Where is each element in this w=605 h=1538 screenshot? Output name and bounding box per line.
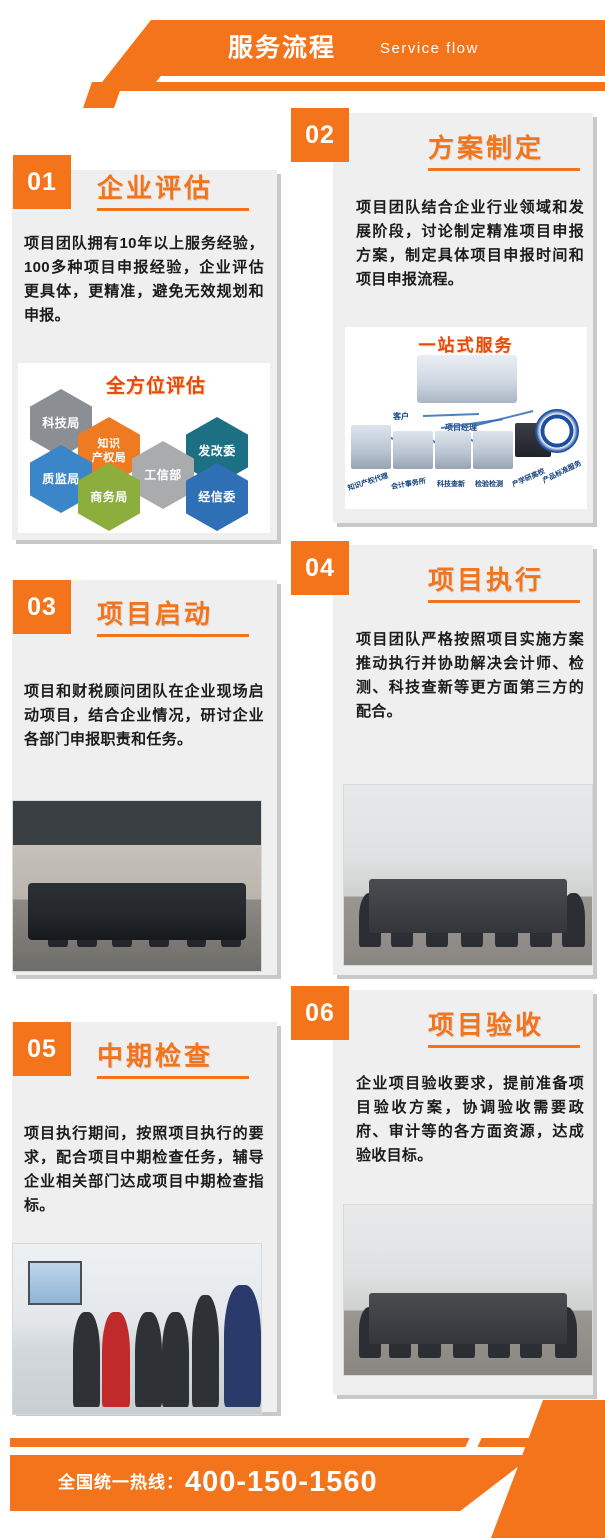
header-banner-bar bbox=[132, 20, 605, 76]
card-03-body: 项目和财税顾问团队在企业现场启动项目，结合企业情况，研讨企业各部门申报职责和任务… bbox=[24, 680, 264, 752]
one-stop-label-customer: 客户 bbox=[393, 411, 409, 422]
one-stop-hero-photo bbox=[417, 355, 517, 403]
card-03-title-rule bbox=[97, 634, 249, 637]
one-stop-label-product-std: 产品标准服务 bbox=[541, 458, 583, 485]
one-stop-thumb-2 bbox=[393, 431, 433, 469]
one-stop-thumb-3 bbox=[435, 431, 471, 469]
one-stop-arrow-1 bbox=[423, 413, 479, 417]
page-title: 服务流程 bbox=[228, 27, 336, 69]
one-stop-label-inspection: 检验检测 bbox=[475, 479, 503, 489]
card-04-title: 项目执行 bbox=[428, 560, 544, 597]
one-stop-seal-icon bbox=[535, 409, 579, 453]
footer-stripe bbox=[10, 1438, 605, 1447]
page-footer: 全国统一热线： 400-150-1560 bbox=[0, 1400, 605, 1538]
card-06-photo bbox=[343, 1204, 593, 1376]
card-02-title-rule bbox=[428, 168, 580, 171]
one-stop-label-ip-agency: 知识产权代理 bbox=[346, 471, 389, 493]
card-03-number-badge: 03 bbox=[13, 580, 71, 634]
card-05-title: 中期检查 bbox=[97, 1036, 213, 1073]
page-subtitle: Service flow bbox=[380, 37, 479, 61]
card-05-title-rule bbox=[97, 1076, 249, 1079]
card-03-title: 项目启动 bbox=[97, 594, 213, 631]
card-04-body: 项目团队严格按照项目实施方案推动执行并协助解决会计师、检测、科技查新等更方面第三… bbox=[356, 628, 584, 724]
card-04-number-badge: 04 bbox=[291, 541, 349, 595]
page-header: 服务流程 Service flow bbox=[0, 0, 605, 108]
card-02-number-badge: 02 bbox=[291, 108, 349, 162]
card-03-photo bbox=[12, 800, 262, 972]
one-stop-thumb-4 bbox=[473, 431, 513, 469]
card-01-body: 项目团队拥有10年以上服务经验，100多种项目申报经验，企业评估更具体，更精准，… bbox=[24, 232, 264, 328]
one-stop-label-tech-novelty: 科技查新 bbox=[437, 479, 465, 489]
card-02-body: 项目团队结合企业行业领域和发展阶段，讨论制定精准项目申报方案，制定具体项目申报时… bbox=[356, 196, 584, 292]
card-04-title-rule bbox=[428, 600, 580, 603]
card-06-body: 企业项目验收要求，提前准备项目验收方案，协调验收需要政府、审计等的各方面资源，达… bbox=[356, 1072, 584, 1168]
card-05-photo bbox=[12, 1243, 262, 1415]
card-02-figure-one-stop-service: 一站式服务 客户 项目经理 知识产权代理 会计事务所 科技查新 检验检测 产学研… bbox=[345, 327, 587, 509]
hotline-label: 全国统一热线： bbox=[58, 1469, 184, 1497]
one-stop-title: 一站式服务 bbox=[345, 331, 587, 356]
hotline-number[interactable]: 400-150-1560 bbox=[185, 1462, 378, 1502]
card-01-number-badge: 01 bbox=[13, 155, 71, 209]
hex-diagram-title: 全方位评估 bbox=[106, 371, 206, 398]
card-01-title-rule bbox=[97, 208, 249, 211]
card-05-body: 项目执行期间，按照项目执行的要求，配合项目中期检查任务，辅导企业相关部门达成项目… bbox=[24, 1122, 264, 1218]
card-01-title: 企业评估 bbox=[97, 168, 213, 205]
one-stop-thumb-1 bbox=[351, 425, 391, 469]
hex-node-jingxin-wei: 经信委 bbox=[186, 463, 248, 531]
card-05-number-badge: 05 bbox=[13, 1022, 71, 1076]
header-diagonal-accent-small bbox=[83, 82, 123, 108]
hex-node-gongxin-bu: 工信部 bbox=[132, 441, 194, 509]
card-06-title-rule bbox=[428, 1045, 580, 1048]
card-04-photo bbox=[343, 784, 593, 966]
card-01-figure-hex-diagram: 全方位评估 科技局 知识产权局 发改委 质监局 工信部 经信委 商务局 bbox=[18, 363, 270, 533]
card-06-title: 项目验收 bbox=[428, 1005, 544, 1042]
one-stop-label-accounting: 会计事务所 bbox=[390, 476, 426, 492]
header-underline-stripe bbox=[118, 82, 605, 91]
card-02-title: 方案制定 bbox=[428, 128, 544, 165]
card-06-number-badge: 06 bbox=[291, 986, 349, 1040]
